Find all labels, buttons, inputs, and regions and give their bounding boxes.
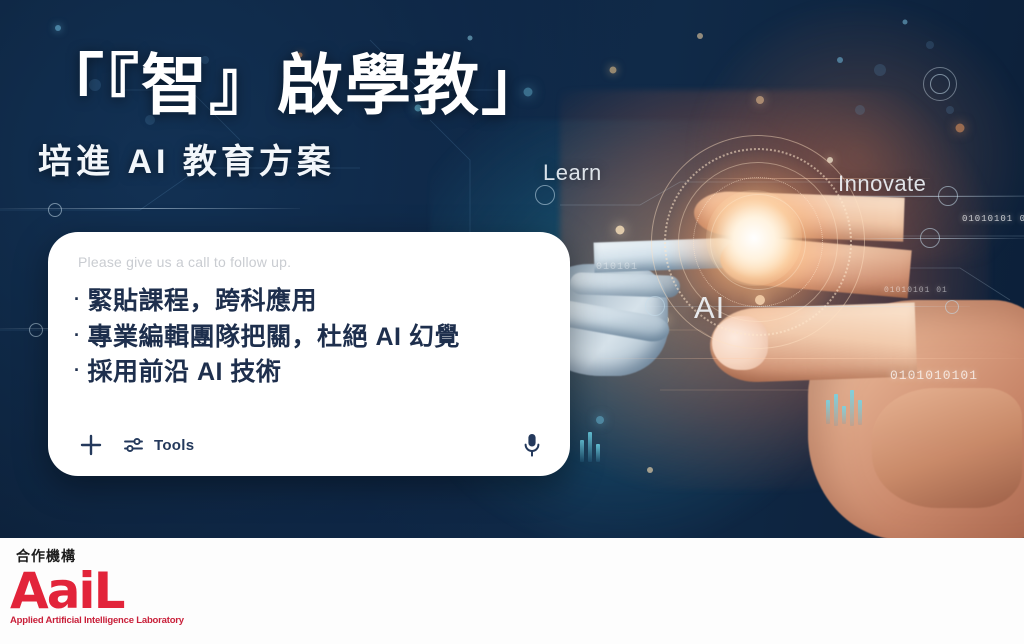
partner-logo-aail[interactable]: AaiL Applied Artificial Intelligence Lab… [10,568,200,626]
bokeh-dot [596,416,604,424]
bokeh-dot [837,57,843,63]
bullet-glyph: · [74,290,81,308]
bokeh-dot [610,67,617,74]
bokeh-dot [756,96,764,104]
add-attachment-button[interactable] [78,432,104,458]
promo-banner: 01010101 0101 01010101 01 0101010101 010… [0,0,1024,644]
audio-waveform-bar [850,390,854,426]
bokeh-dot [55,25,61,31]
bullet-glyph: · [74,326,81,344]
bokeh-dot [468,36,473,41]
list-item-label: 專業編輯團隊把關，杜絕 AI 幻覺 [88,320,460,356]
hud-node-circle [945,300,959,314]
binary-overlay-text: 01010101 0101 [962,214,1024,224]
plus-icon [78,432,104,458]
chat-placeholder-text: Please give us a call to follow up. [78,254,544,270]
robot-finger [570,272,681,298]
list-item: · 緊貼課程，跨科應用 [74,284,544,320]
bokeh-dot [697,33,703,39]
footer-partners-bar: 合作機構 AaiL Applied Artificial Intelligenc… [0,538,1024,644]
bokeh-dot [647,467,653,473]
binary-overlay-text: 01010101 01 [884,286,948,295]
audio-waveform-bar [858,400,862,425]
bokeh-dot [903,20,908,25]
bokeh-dot [827,157,833,163]
audio-waveform-bar [580,440,584,462]
list-item: · 專業編輯團隊把關，杜絕 AI 幻覺 [74,320,544,356]
hud-connector-line [0,208,300,209]
fingertip-touch-core [706,190,802,286]
bokeh-dot [956,124,965,133]
microphone-icon [520,431,544,459]
microphone-button[interactable] [520,431,544,459]
human-knuckle [872,388,1022,508]
tools-button[interactable]: Tools [122,433,194,457]
page-title: 「『智』啟學教」 [38,52,598,118]
audio-waveform-bar [826,400,830,424]
hero-label-innovate: Innovate [838,171,926,197]
list-item: · 採用前沿 AI 技術 [74,355,544,391]
chat-feature-list: · 緊貼課程，跨科應用 · 專業編輯團隊把關，杜絕 AI 幻覺 · 採用前沿 A… [74,284,544,420]
binary-overlay-text: 010101 [596,262,638,273]
hud-connector-line [855,238,1024,239]
hud-node-circle [29,323,43,337]
hud-node-circle [48,203,62,217]
headline-block: 「『智』啟學教」 培進 AI 教育方案 [38,52,598,183]
hud-target-circle [930,74,950,94]
tools-label: Tools [154,437,194,454]
audio-waveform-bar [588,432,592,462]
chat-composer-card[interactable]: Please give us a call to follow up. · 緊貼… [48,232,570,476]
sliders-icon [122,433,146,457]
hero-section: 01010101 0101 01010101 01 0101010101 010… [0,0,1024,538]
hud-connector-line [600,358,1024,359]
audio-waveform-bar [842,406,846,424]
hero-label-ai: AI [694,290,725,326]
audio-waveform-bar [596,444,600,462]
audio-waveform-bar [834,394,838,426]
aail-tagline: Applied Artificial Intelligence Laborato… [10,615,200,626]
binary-overlay-text: 0101010101 [890,368,978,383]
list-item-label: 採用前沿 AI 技術 [88,355,282,391]
hud-node-circle [535,185,555,205]
list-item-label: 緊貼課程，跨科應用 [88,284,318,320]
bullet-glyph: · [74,361,81,379]
aail-wordmark: AaiL [10,568,200,614]
hud-connector-line [640,306,970,307]
chat-toolbar: Tools [74,420,544,476]
page-subtitle: 培進 AI 教育方案 [38,134,598,183]
